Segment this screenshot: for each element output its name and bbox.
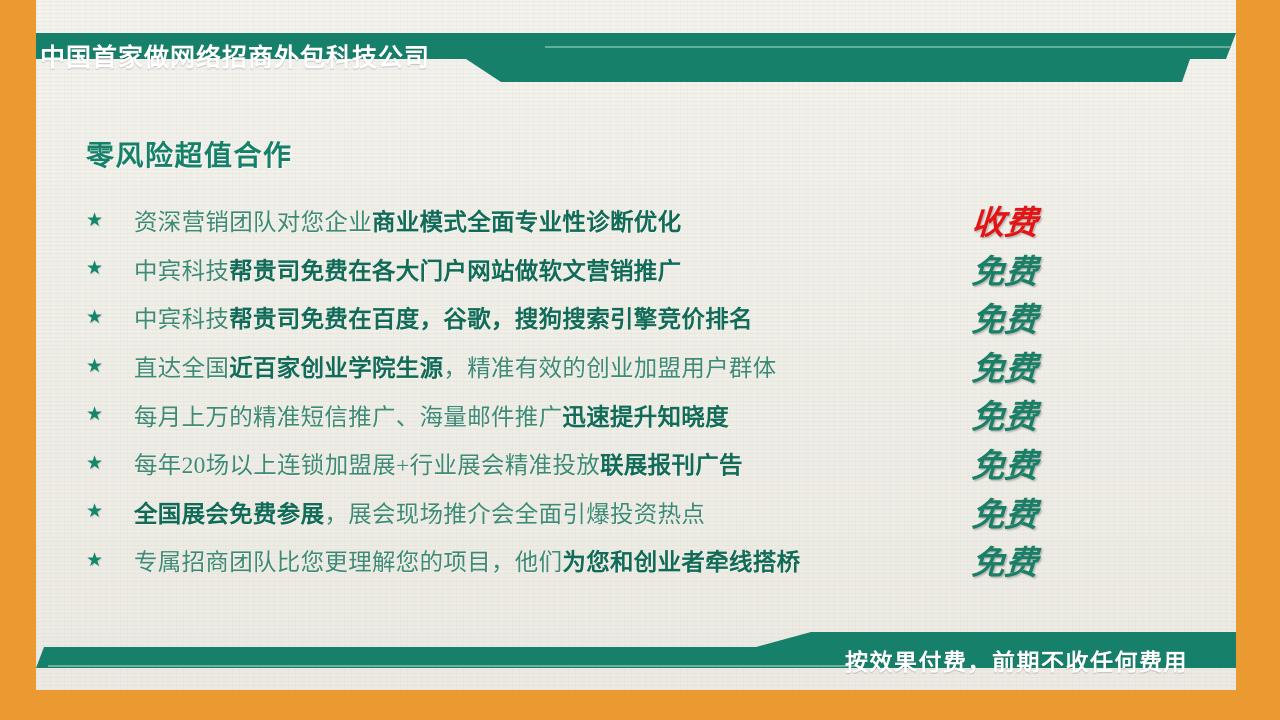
price-label: 免费 xyxy=(948,439,1061,488)
text-emphasis: 帮贵司免费在百度，谷歌，搜狗搜索引擎竞价排名 xyxy=(229,307,753,333)
benefit-list: ★ 资深营销团队对您企业商业模式全面专业性诊断优化 ★ 中宾科技帮贵司免费在各大… xyxy=(86,196,916,585)
text-emphasis: 近百家创业学院生源 xyxy=(229,356,443,382)
price-label: 收费 xyxy=(948,196,1061,245)
text-plain-prefix: 每月上万的精准短信推广、海量邮件推广 xyxy=(134,405,562,431)
text-plain-suffix: ，精准有效的创业加盟用户群体 xyxy=(443,356,776,382)
header-hairline xyxy=(545,46,1231,48)
star-bullet-icon: ★ xyxy=(86,405,134,424)
list-item-text: 中宾科技帮贵司免费在百度，谷歌，搜狗搜索引擎竞价排名 xyxy=(134,300,753,334)
list-item: ★ 中宾科技帮贵司免费在各大门户网站做软文营销推广 xyxy=(86,245,916,294)
star-bullet-icon: ★ xyxy=(86,454,134,473)
price-column: 收费 免费 免费 免费 免费 免费 免费 免费 xyxy=(950,196,1060,585)
list-item: ★ 中宾科技帮贵司免费在百度，谷歌，搜狗搜索引擎竞价排名 xyxy=(86,293,916,342)
price-label: 免费 xyxy=(948,293,1061,342)
list-item: ★ 每月上万的精准短信推广、海量邮件推广迅速提升知晓度 xyxy=(86,390,916,439)
price-label: 免费 xyxy=(948,390,1061,439)
list-item-text: 全国展会免费参展，展会现场推介会全面引爆投资热点 xyxy=(134,495,705,529)
price-label: 免费 xyxy=(948,342,1061,391)
text-emphasis: 帮贵司免费在各大门户网站做软文营销推广 xyxy=(229,259,681,285)
text-plain-suffix: ，展会现场推介会全面引爆投资热点 xyxy=(324,502,705,528)
price-label: 免费 xyxy=(948,488,1061,537)
star-bullet-icon: ★ xyxy=(86,502,134,521)
text-plain-prefix: 中宾科技 xyxy=(134,259,229,285)
list-item: ★ 专属招商团队比您更理解您的项目，他们为您和创业者牵线搭桥 xyxy=(86,536,916,585)
list-item: ★ 每年20场以上连锁加盟展+行业展会精准投放联展报刊广告 xyxy=(86,439,916,488)
list-item: ★ 全国展会免费参展，展会现场推介会全面引爆投资热点 xyxy=(86,488,916,537)
star-bullet-icon: ★ xyxy=(86,551,134,570)
text-emphasis: 商业模式全面专业性诊断优化 xyxy=(372,210,681,236)
star-bullet-icon: ★ xyxy=(86,259,134,278)
page-title: 零风险超值合作 xyxy=(86,134,293,174)
text-plain-prefix: 中宾科技 xyxy=(134,307,229,333)
list-item-text: 中宾科技帮贵司免费在各大门户网站做软文营销推广 xyxy=(134,252,681,286)
text-plain-prefix: 直达全国 xyxy=(134,356,229,382)
text-emphasis: 迅速提升知晓度 xyxy=(562,405,729,431)
list-item-text: 每年20场以上连锁加盟展+行业展会精准投放联展报刊广告 xyxy=(134,446,743,480)
slide-root: 中国首家做网络招商外包科技公司 零风险超值合作 ★ 资深营销团队对您企业商业模式… xyxy=(0,0,1280,720)
star-bullet-icon: ★ xyxy=(86,308,134,327)
star-bullet-icon: ★ xyxy=(86,211,134,230)
footer-tagline: 按效果付费，前期不收任何费用 xyxy=(845,643,1188,677)
list-item-text: 资深营销团队对您企业商业模式全面专业性诊断优化 xyxy=(134,203,681,237)
list-item-text: 每月上万的精准短信推广、海量邮件推广迅速提升知晓度 xyxy=(134,398,729,432)
text-emphasis: 为您和创业者牵线搭桥 xyxy=(562,550,800,576)
list-item: ★ 直达全国近百家创业学院生源，精准有效的创业加盟用户群体 xyxy=(86,342,916,391)
list-item-text: 专属招商团队比您更理解您的项目，他们为您和创业者牵线搭桥 xyxy=(134,543,800,577)
text-plain-prefix: 每年20场以上连锁加盟展+行业展会精准投放 xyxy=(134,453,600,479)
price-label: 免费 xyxy=(948,536,1061,585)
price-label: 免费 xyxy=(948,245,1061,294)
text-plain-prefix: 专属招商团队比您更理解您的项目，他们 xyxy=(134,550,562,576)
footer-hairline xyxy=(48,665,858,667)
text-emphasis: 联展报刊广告 xyxy=(600,453,743,479)
text-plain-prefix: 资深营销团队对您企业 xyxy=(134,210,372,236)
text-emphasis: 全国展会免费参展 xyxy=(134,502,324,528)
list-item: ★ 资深营销团队对您企业商业模式全面专业性诊断优化 xyxy=(86,196,916,245)
header-title: 中国首家做网络招商外包科技公司 xyxy=(40,38,430,74)
star-bullet-icon: ★ xyxy=(86,357,134,376)
list-item-text: 直达全国近百家创业学院生源，精准有效的创业加盟用户群体 xyxy=(134,349,777,383)
